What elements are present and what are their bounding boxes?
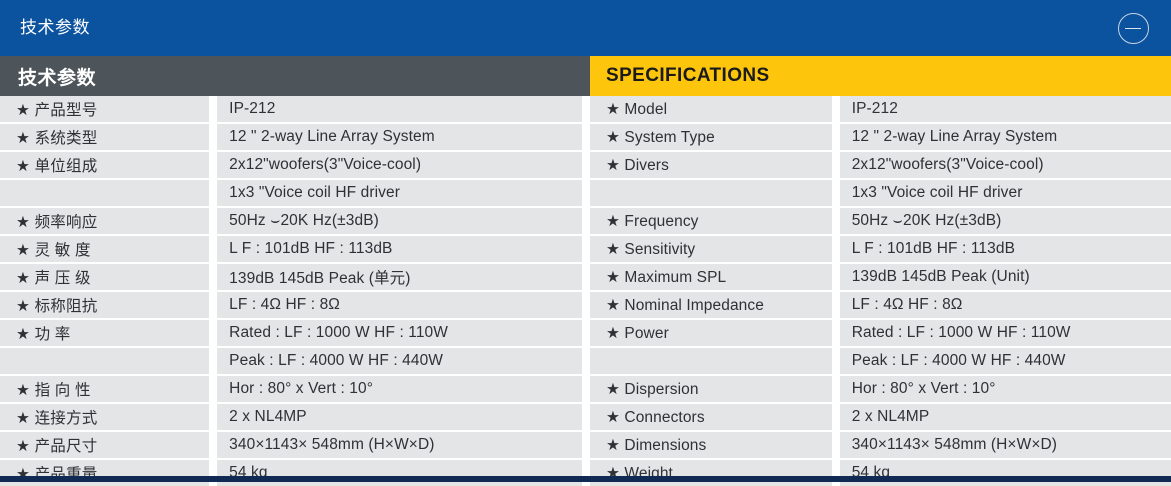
row-value-english-text: 340×1143× 548mm (H×W×D): [852, 436, 1057, 454]
table-row: ★ 连接方式2 x NL4MP★ Connectors2 x NL4MP: [0, 404, 1171, 430]
row-label-chinese: ★ 标称阻抗: [0, 292, 209, 318]
row-label-english: ★ Sensitivity: [590, 236, 832, 262]
row-label-english: ★ Dimensions: [590, 432, 832, 458]
row-value-english-text: Hor : 80° x Vert : 10°: [852, 380, 996, 398]
row-label-english: ★ System Type: [590, 124, 832, 150]
column-gap: [582, 180, 590, 206]
table-row: ★ 单位组成2x12"woofers(3"Voice-cool)★ Divers…: [0, 152, 1171, 178]
table-row: ★ 标称阻抗LF : 4Ω HF : 8Ω★ Nominal Impedance…: [0, 292, 1171, 318]
column-gap: [582, 124, 590, 150]
row-label-chinese: ★ 声 压 级: [0, 264, 209, 290]
column-gap: [209, 236, 217, 262]
row-value-english: 1x3 "Voice coil HF driver: [840, 180, 1171, 206]
column-gap: [832, 124, 840, 150]
row-value-english-text: IP-212: [852, 100, 898, 118]
row-value-english-text: Rated : LF : 1000 W HF : 110W: [852, 324, 1071, 342]
table-row: ★ 功 率Rated : LF : 1000 W HF : 110W★ Powe…: [0, 320, 1171, 346]
column-gap: [832, 348, 840, 374]
row-value-chinese: Rated : LF : 1000 W HF : 110W: [217, 320, 582, 346]
row-value-chinese: 1x3 "Voice coil HF driver: [217, 180, 582, 206]
table-row: ★ 指 向 性Hor : 80° x Vert : 10°★ Dispersio…: [0, 376, 1171, 402]
row-value-chinese-text: 139dB 145dB Peak (单元): [229, 266, 410, 288]
column-gap: [209, 376, 217, 402]
row-label-english-text: ★ Divers: [606, 156, 669, 175]
row-label-english-text: ★ Dispersion: [606, 380, 699, 399]
column-gap: [832, 264, 840, 290]
column-gap: [832, 404, 840, 430]
row-label-english-text: ★ Dimensions: [606, 436, 706, 455]
row-label-chinese: ★ 系统类型: [0, 124, 209, 150]
column-gap: [832, 152, 840, 178]
column-gap: [582, 292, 590, 318]
row-value-chinese-text: Hor : 80° x Vert : 10°: [229, 380, 373, 398]
panel-titlebar: 技术参数: [0, 0, 1171, 56]
panel-title: 技术参数: [20, 17, 90, 39]
row-label-chinese-text: ★ 连接方式: [16, 406, 97, 428]
row-value-english-text: 50Hz ⌣20K Hz(±3dB): [852, 212, 1002, 230]
column-gap: [209, 124, 217, 150]
column-gap: [209, 152, 217, 178]
column-gap: [209, 404, 217, 430]
column-gap: [582, 236, 590, 262]
column-gap: [209, 264, 217, 290]
minus-circle-icon[interactable]: [1118, 13, 1149, 44]
spec-table-body: ★ 产品型号IP-212★ ModelIP-212★ 系统类型12 " 2-wa…: [0, 96, 1171, 476]
column-gap: [832, 236, 840, 262]
column-gap: [582, 264, 590, 290]
row-value-english: LF : 4Ω HF : 8Ω: [840, 292, 1171, 318]
row-label-english: ★ Dispersion: [590, 376, 832, 402]
column-gap: [582, 460, 590, 486]
row-value-chinese: 54 kg: [217, 460, 582, 486]
row-value-english: 12 " 2-way Line Array System: [840, 124, 1171, 150]
column-gap: [582, 404, 590, 430]
column-gap: [582, 208, 590, 234]
header-cell-english: SPECIFICATIONS: [590, 56, 1171, 96]
row-label-chinese: ★ 灵 敏 度: [0, 236, 209, 262]
spec-table-header: 技术参数 SPECIFICATIONS: [0, 56, 1171, 96]
row-value-chinese: 2x12"woofers(3"Voice-cool): [217, 152, 582, 178]
row-value-chinese-text: Peak : LF : 4000 W HF : 440W: [229, 352, 443, 370]
column-gap: [209, 180, 217, 206]
table-row: ★ 产品尺寸340×1143× 548mm (H×W×D)★ Dimension…: [0, 432, 1171, 458]
row-value-chinese: IP-212: [217, 96, 582, 122]
column-gap: [209, 96, 217, 122]
column-gap: [832, 180, 840, 206]
column-gap: [582, 152, 590, 178]
column-gap: [209, 292, 217, 318]
column-gap: [832, 96, 840, 122]
table-row: ★ 系统类型12 " 2-way Line Array System★ Syst…: [0, 124, 1171, 150]
bottom-accent-bar: [0, 476, 1171, 482]
column-gap: [832, 292, 840, 318]
column-gap: [832, 208, 840, 234]
row-value-chinese: 50Hz ⌣20K Hz(±3dB): [217, 208, 582, 234]
row-value-chinese-text: 1x3 "Voice coil HF driver: [229, 184, 400, 202]
table-row: ★ 灵 敏 度L F : 101dB HF : 113dB★ Sensitivi…: [0, 236, 1171, 262]
row-value-chinese-text: 2 x NL4MP: [229, 408, 307, 426]
row-label-english: ★ Connectors: [590, 404, 832, 430]
table-row: ★ 频率响应50Hz ⌣20K Hz(±3dB)★ Frequency50Hz …: [0, 208, 1171, 234]
row-label-chinese-text: ★ 产品尺寸: [16, 434, 97, 456]
row-label-english-text: ★ System Type: [606, 128, 715, 147]
column-gap: [582, 432, 590, 458]
row-value-chinese-text: 50Hz ⌣20K Hz(±3dB): [229, 212, 379, 230]
row-label-english: [590, 348, 832, 374]
row-value-chinese: 12 " 2-way Line Array System: [217, 124, 582, 150]
row-value-english: 54 kg: [840, 460, 1171, 486]
row-value-english-text: 139dB 145dB Peak (Unit): [852, 268, 1030, 286]
row-value-chinese-text: Rated : LF : 1000 W HF : 110W: [229, 324, 448, 342]
table-row: ★ 声 压 级139dB 145dB Peak (单元)★ Maximum SP…: [0, 264, 1171, 290]
row-label-chinese-text: ★ 频率响应: [16, 210, 97, 232]
row-label-chinese-text: ★ 标称阻抗: [16, 294, 97, 316]
row-value-english: 340×1143× 548mm (H×W×D): [840, 432, 1171, 458]
row-label-english-text: ★ Nominal Impedance: [606, 296, 764, 315]
row-label-english: ★ Power: [590, 320, 832, 346]
row-label-chinese: ★ 单位组成: [0, 152, 209, 178]
row-value-english: 50Hz ⌣20K Hz(±3dB): [840, 208, 1171, 234]
header-title-chinese: 技术参数: [0, 63, 96, 90]
row-value-english-text: Peak : LF : 4000 W HF : 440W: [852, 352, 1066, 370]
row-label-chinese: ★ 连接方式: [0, 404, 209, 430]
column-gap: [582, 376, 590, 402]
row-label-english: ★ Maximum SPL: [590, 264, 832, 290]
row-value-chinese: Hor : 80° x Vert : 10°: [217, 376, 582, 402]
row-value-chinese: Peak : LF : 4000 W HF : 440W: [217, 348, 582, 374]
row-label-english-text: ★ Frequency: [606, 212, 699, 231]
row-label-chinese: ★ 功 率: [0, 320, 209, 346]
row-label-chinese: ★ 指 向 性: [0, 376, 209, 402]
row-label-chinese: ★ 频率响应: [0, 208, 209, 234]
row-label-chinese-text: ★ 灵 敏 度: [16, 238, 91, 260]
row-label-english: ★ Model: [590, 96, 832, 122]
row-value-chinese-text: 340×1143× 548mm (H×W×D): [229, 436, 434, 454]
row-value-chinese-text: 2x12"woofers(3"Voice-cool): [229, 156, 421, 174]
column-gap: [582, 320, 590, 346]
row-label-chinese-text: ★ 声 压 级: [16, 266, 91, 288]
row-value-english-text: 2x12"woofers(3"Voice-cool): [852, 156, 1044, 174]
row-label-chinese-text: ★ 指 向 性: [16, 378, 91, 400]
row-value-english: 139dB 145dB Peak (Unit): [840, 264, 1171, 290]
row-value-english: 2x12"woofers(3"Voice-cool): [840, 152, 1171, 178]
column-gap: [832, 320, 840, 346]
row-label-english: ★ Divers: [590, 152, 832, 178]
table-row: ★ 产品型号IP-212★ ModelIP-212: [0, 96, 1171, 122]
column-gap: [209, 460, 217, 486]
row-label-chinese: [0, 348, 209, 374]
row-label-english: ★ Nominal Impedance: [590, 292, 832, 318]
column-gap: [209, 348, 217, 374]
row-label-english-text: ★ Maximum SPL: [606, 268, 726, 287]
row-value-english-text: LF : 4Ω HF : 8Ω: [852, 296, 963, 314]
row-label-english-text: ★ Sensitivity: [606, 240, 695, 259]
row-value-english-text: 1x3 "Voice coil HF driver: [852, 184, 1023, 202]
row-label-chinese-text: ★ 单位组成: [16, 154, 97, 176]
column-gap: [209, 320, 217, 346]
row-value-english-text: 2 x NL4MP: [852, 408, 930, 426]
row-label-chinese: ★ 产品型号: [0, 96, 209, 122]
row-value-chinese: 139dB 145dB Peak (单元): [217, 264, 582, 290]
row-value-chinese-text: L F : 101dB HF : 113dB: [229, 240, 392, 258]
row-label-chinese: ★ 产品重量: [0, 460, 209, 486]
row-label-chinese-text: ★ 系统类型: [16, 126, 97, 148]
row-label-english-text: ★ Model: [606, 100, 667, 119]
header-cell-chinese: 技术参数: [0, 56, 590, 96]
column-gap: [832, 432, 840, 458]
row-value-chinese: 2 x NL4MP: [217, 404, 582, 430]
column-gap: [582, 348, 590, 374]
row-value-chinese: LF : 4Ω HF : 8Ω: [217, 292, 582, 318]
row-label-english-text: ★ Power: [606, 324, 669, 343]
table-row: ★ 产品重量54 kg★ Weight54 kg: [0, 460, 1171, 486]
row-value-english: Peak : LF : 4000 W HF : 440W: [840, 348, 1171, 374]
column-gap: [209, 432, 217, 458]
row-label-chinese-text: ★ 产品型号: [16, 98, 97, 120]
row-value-english: Rated : LF : 1000 W HF : 110W: [840, 320, 1171, 346]
row-value-english-text: 12 " 2-way Line Array System: [852, 128, 1058, 146]
header-title-english: SPECIFICATIONS: [590, 65, 770, 87]
row-value-chinese: 340×1143× 548mm (H×W×D): [217, 432, 582, 458]
row-value-chinese-text: IP-212: [229, 100, 275, 118]
row-value-english: L F : 101dB HF : 113dB: [840, 236, 1171, 262]
column-gap: [582, 96, 590, 122]
table-row: 1x3 "Voice coil HF driver1x3 "Voice coil…: [0, 180, 1171, 206]
row-label-english: [590, 180, 832, 206]
row-value-english-text: L F : 101dB HF : 113dB: [852, 240, 1015, 258]
row-label-chinese: [0, 180, 209, 206]
column-gap: [832, 460, 840, 486]
row-value-chinese-text: 12 " 2-way Line Array System: [229, 128, 435, 146]
row-label-english: ★ Frequency: [590, 208, 832, 234]
row-label-chinese-text: ★ 功 率: [16, 322, 71, 344]
table-row: Peak : LF : 4000 W HF : 440WPeak : LF : …: [0, 348, 1171, 374]
row-value-chinese: L F : 101dB HF : 113dB: [217, 236, 582, 262]
row-value-chinese-text: LF : 4Ω HF : 8Ω: [229, 296, 340, 314]
row-value-english: IP-212: [840, 96, 1171, 122]
row-label-chinese: ★ 产品尺寸: [0, 432, 209, 458]
row-value-english: Hor : 80° x Vert : 10°: [840, 376, 1171, 402]
row-value-english: 2 x NL4MP: [840, 404, 1171, 430]
column-gap: [832, 376, 840, 402]
column-gap: [209, 208, 217, 234]
row-label-english: ★ Weight: [590, 460, 832, 486]
row-label-english-text: ★ Connectors: [606, 408, 705, 427]
